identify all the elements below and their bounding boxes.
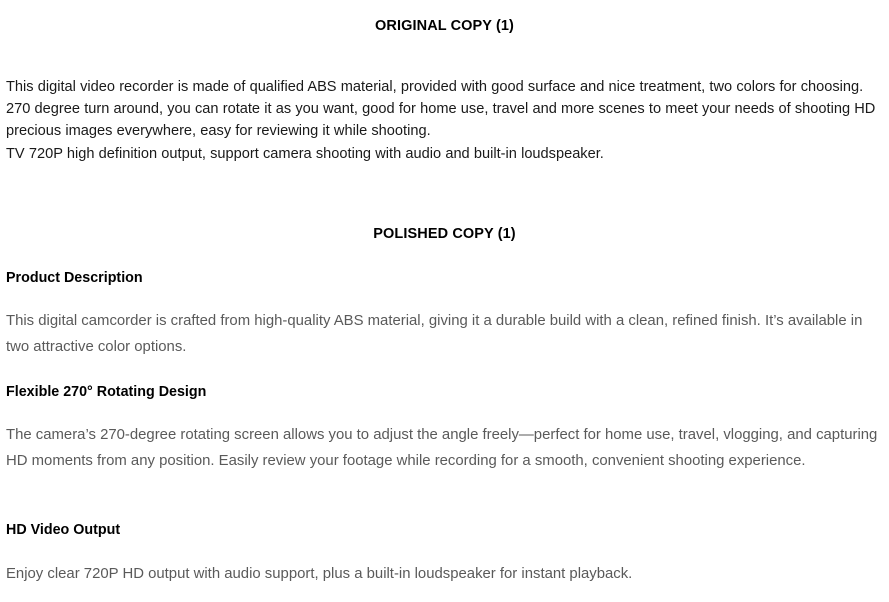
original-copy-paragraph-1: This digital video recorder is made of q… [0,76,889,98]
polished-body-rotating-design-wrap: The camera’s 270-degree rotating screen … [0,423,889,474]
original-copy-paragraph-2: 270 degree turn around, you can rotate i… [0,98,889,142]
polished-body-product-description: This digital camcorder is crafted from h… [0,309,889,360]
polished-body-product-description-wrap: This digital camcorder is crafted from h… [0,309,889,360]
polished-copy-title: POLISHED COPY (1) [0,226,889,243]
document-page: ORIGINAL COPY (1) This digital video rec… [0,18,889,602]
subheading-rotating-design: Flexible 270° Rotating Design [0,382,889,402]
subheading-hd-video-output: HD Video Output [0,520,889,540]
polished-block-product-description: Product Description [0,268,889,288]
original-copy-title: ORIGINAL COPY (1) [0,18,889,35]
polished-body-rotating-design: The camera’s 270-degree rotating screen … [0,423,889,474]
original-copy-body: This digital video recorder is made of q… [0,76,889,165]
polished-block-hd-video-output: HD Video Output [0,520,889,540]
polished-block-rotating-design: Flexible 270° Rotating Design [0,382,889,402]
original-copy-paragraph-3: TV 720P high definition output, support … [0,143,889,165]
subheading-product-description: Product Description [0,268,889,288]
